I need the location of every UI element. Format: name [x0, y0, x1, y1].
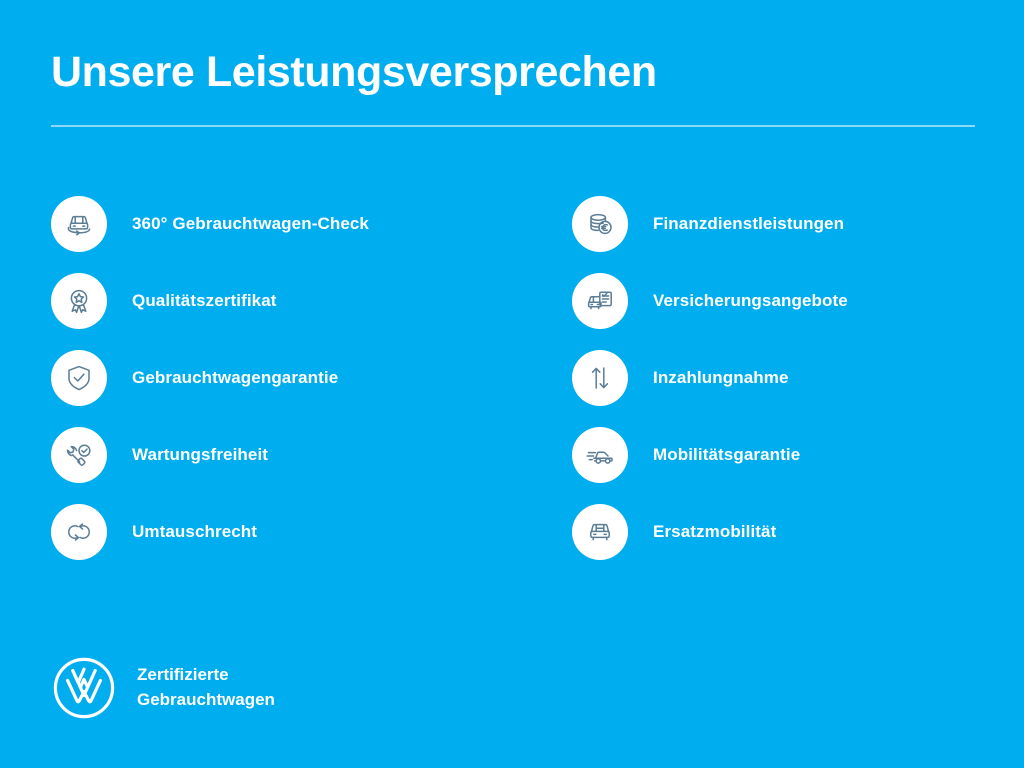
wrench-check-icon — [51, 427, 107, 483]
promises-left-column: 360° Gebrauchtwagen-Check Qualitätszerti… — [51, 196, 369, 581]
slide-root: Unsere Leistungsversprechen — [0, 0, 1024, 768]
brand-line-1: Zertifizierte — [137, 663, 275, 688]
title-divider — [51, 125, 975, 127]
promise-label: Qualitätszertifikat — [132, 291, 277, 311]
promise-item-warranty[interactable]: Gebrauchtwagengarantie — [51, 350, 369, 406]
promise-item-financial-services[interactable]: Finanzdienstleistungen — [572, 196, 848, 252]
page-title: Unsere Leistungsversprechen — [51, 50, 975, 95]
promise-label: Umtauschrecht — [132, 522, 257, 542]
brand-footer: Zertifizierte Gebrauchtwagen — [51, 655, 275, 721]
promise-item-exchange-right[interactable]: Umtauschrecht — [51, 504, 369, 560]
up-down-arrows-icon — [572, 350, 628, 406]
car-front-icon — [572, 504, 628, 560]
brand-text: Zertifizierte Gebrauchtwagen — [137, 663, 275, 712]
promise-item-maintenance-free[interactable]: Wartungsfreiheit — [51, 427, 369, 483]
header: Unsere Leistungsversprechen — [51, 50, 975, 127]
award-rosette-icon — [51, 273, 107, 329]
promise-item-quality-certificate[interactable]: Qualitätszertifikat — [51, 273, 369, 329]
promises-right-column: Finanzdienstleistungen — [572, 196, 848, 581]
promise-label: Ersatzmobilität — [653, 522, 776, 542]
promise-label: Mobilitätsgarantie — [653, 445, 800, 465]
brand-line-2: Gebrauchtwagen — [137, 688, 275, 713]
car-document-check-icon — [572, 273, 628, 329]
exchange-arrows-icon — [51, 504, 107, 560]
shield-check-icon — [51, 350, 107, 406]
promise-label: Wartungsfreiheit — [132, 445, 268, 465]
promise-item-360-check[interactable]: 360° Gebrauchtwagen-Check — [51, 196, 369, 252]
promise-label: Inzahlungnahme — [653, 368, 789, 388]
car-360-check-icon — [51, 196, 107, 252]
promise-item-trade-in[interactable]: Inzahlungnahme — [572, 350, 848, 406]
promise-item-mobility-guarantee[interactable]: Mobilitätsgarantie — [572, 427, 848, 483]
promise-label: 360° Gebrauchtwagen-Check — [132, 214, 369, 234]
coins-euro-icon — [572, 196, 628, 252]
promise-label: Finanzdienstleistungen — [653, 214, 844, 234]
promise-item-replacement-mobility[interactable]: Ersatzmobilität — [572, 504, 848, 560]
promise-item-insurance-offers[interactable]: Versicherungsangebote — [572, 273, 848, 329]
promise-label: Gebrauchtwagengarantie — [132, 368, 338, 388]
car-speed-icon — [572, 427, 628, 483]
volkswagen-logo — [51, 655, 117, 721]
promise-label: Versicherungsangebote — [653, 291, 848, 311]
